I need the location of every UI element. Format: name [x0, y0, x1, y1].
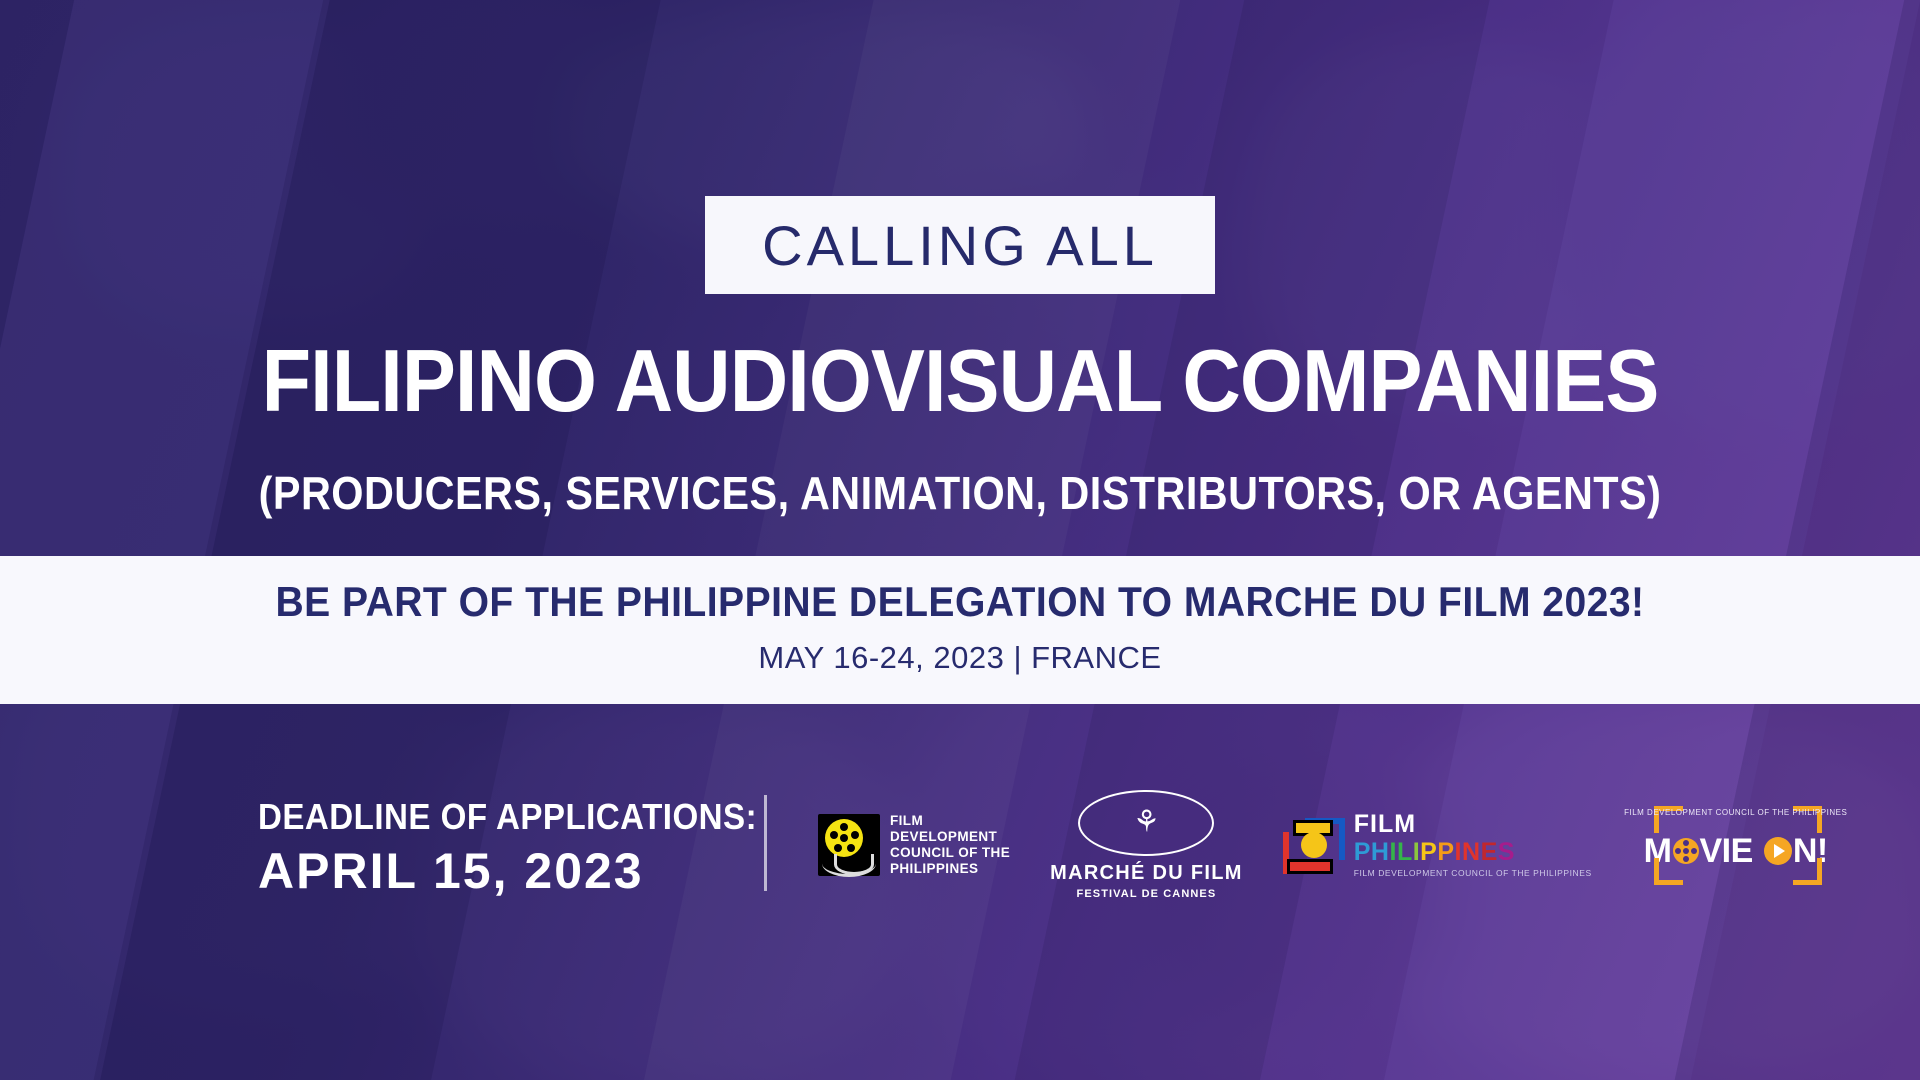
delegation-line: BE PART OF THE PHILIPPINE DELEGATION TO …	[67, 578, 1853, 626]
fdcp-line-4: PHILIPPINES	[890, 861, 1010, 877]
marche-du-film-logo: ⚘ MARCHÉ DU FILM FESTIVAL DE CANNES	[1050, 790, 1243, 900]
vertical-divider	[764, 795, 767, 891]
fdcp-logo-text: FILM DEVELOPMENT COUNCIL OF THE PHILIPPI…	[890, 813, 1010, 877]
filmph-letter: I	[1389, 838, 1396, 866]
fdcp-logo: FILM DEVELOPMENT COUNCIL OF THE PHILIPPI…	[818, 813, 1010, 877]
marche-subtitle: FESTIVAL DE CANNES	[1050, 888, 1243, 900]
eyebrow-box: CALLING ALL	[705, 196, 1215, 294]
logo-row: FILM DEVELOPMENT COUNCIL OF THE PHILIPPI…	[818, 790, 1840, 900]
fdcp-line-1: FILM	[890, 813, 1010, 829]
filmph-letter: I	[1455, 838, 1462, 866]
film-reel-icon	[818, 814, 880, 876]
film-reel-icon	[1673, 838, 1699, 864]
info-band: BE PART OF THE PHILIPPINE DELEGATION TO …	[0, 556, 1920, 704]
filmph-letter: H	[1371, 838, 1390, 866]
filmph-line-1: FILM	[1354, 812, 1592, 837]
bracket-icon	[1793, 858, 1822, 885]
palme-dor-icon: ⚘	[1078, 790, 1214, 856]
filmph-letter: E	[1481, 838, 1498, 866]
movie-on-part-2: VIE	[1700, 832, 1753, 871]
date-location-line: MAY 16-24, 2023 | FRANCE	[0, 640, 1920, 676]
play-button-icon	[1764, 837, 1792, 865]
filmph-letter: P	[1354, 838, 1371, 866]
marche-title: MARCHÉ DU FILM	[1050, 862, 1243, 885]
fdcp-line-3: COUNCIL OF THE	[890, 845, 1010, 861]
deadline-label: DEADLINE OF APPLICATIONS:	[258, 796, 757, 838]
fdcp-line-2: DEVELOPMENT	[890, 829, 1010, 845]
filmph-letter: S	[1498, 838, 1515, 866]
movie-on-logo: FILM DEVELOPMENT COUNCIL OF THE PHILIPPI…	[1632, 806, 1840, 885]
poster-content: CALLING ALL FILIPINO AUDIOVISUAL COMPANI…	[0, 0, 1920, 1080]
filmph-line-2: PHILIPPINES	[1354, 839, 1592, 865]
movie-on-tagline: FILM DEVELOPMENT COUNCIL OF THE PHILIPPI…	[1624, 808, 1847, 817]
filmph-line-3: FILM DEVELOPMENT COUNCIL OF THE PHILIPPI…	[1354, 868, 1592, 878]
deadline-date: APRIL 15, 2023	[258, 842, 801, 900]
film-philippines-text: FILM PHILIPPINES FILM DEVELOPMENT COUNCI…	[1354, 812, 1592, 878]
promo-banner: CALLING ALL FILIPINO AUDIOVISUAL COMPANI…	[0, 0, 1920, 1080]
film-philippines-logo: FILM PHILIPPINES FILM DEVELOPMENT COUNCI…	[1283, 812, 1592, 878]
deadline-block: DEADLINE OF APPLICATIONS: APRIL 15, 2023	[258, 796, 801, 900]
film-philippines-icon	[1283, 816, 1345, 874]
subtitle: (PRODUCERS, SERVICES, ANIMATION, DISTRIB…	[96, 466, 1824, 520]
eyebrow-text: CALLING ALL	[762, 213, 1158, 278]
page-title: FILIPINO AUDIOVISUAL COMPANIES	[77, 330, 1843, 432]
filmph-letter: P	[1420, 838, 1437, 866]
filmph-letter: N	[1462, 838, 1481, 866]
palme-glyph: ⚘	[1133, 807, 1160, 837]
filmph-letter: P	[1437, 838, 1454, 866]
filmph-letter: L	[1397, 838, 1413, 866]
